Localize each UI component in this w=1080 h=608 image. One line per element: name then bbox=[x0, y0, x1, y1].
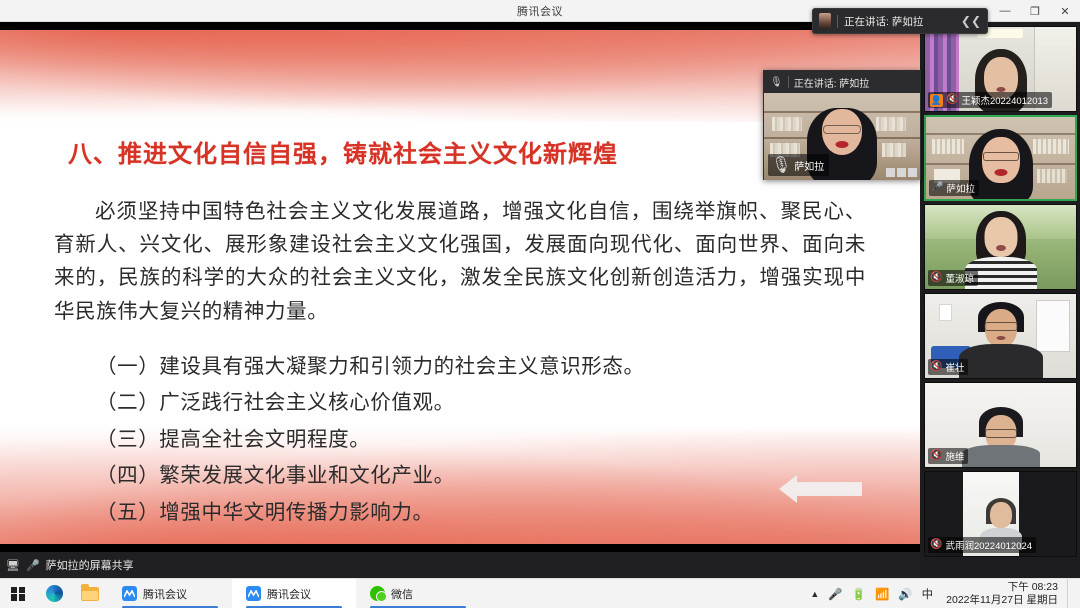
floating-video-title: 正在讲话: 萨如拉 bbox=[794, 75, 870, 90]
participant-tile[interactable]: 👤 🔇 王颖杰20224012013 bbox=[924, 26, 1077, 112]
host-icon: 👤 bbox=[930, 94, 943, 107]
list-item: （三）提高全社会文明程度。 bbox=[96, 421, 890, 457]
ime-indicator[interactable]: 中 bbox=[922, 586, 934, 602]
back-arrow-icon bbox=[796, 482, 862, 496]
participant-tile[interactable]: 🔇 武雨润20224012024 bbox=[924, 471, 1077, 557]
participant-badge: 🔇 崔壮 bbox=[928, 359, 968, 375]
tencent-meeting-icon bbox=[122, 586, 137, 601]
show-desktop-button[interactable] bbox=[1067, 579, 1072, 608]
microphone-on-icon: 🎤 bbox=[26, 559, 40, 572]
participant-badge: 🔇 施维 bbox=[928, 448, 968, 464]
microphone-icon: 🎙 bbox=[770, 77, 783, 88]
list-item: （四）繁荣发展文化事业和文化产业。 bbox=[96, 457, 890, 493]
participant-name: 施维 bbox=[945, 449, 964, 463]
floating-video-name: 萨如拉 bbox=[794, 158, 824, 173]
clock-time: 下午 08:23 bbox=[946, 581, 1058, 593]
system-tray: ▲ 🎤 🔋 📶 🔊 中 下午 08:23 2022年11月27日 星期日 bbox=[810, 579, 1080, 608]
pill-divider bbox=[837, 15, 838, 28]
participant-name: 武雨润20224012024 bbox=[945, 538, 1032, 552]
tray-overflow-icon[interactable]: ▲ bbox=[810, 589, 819, 599]
microphone-muted-icon: 🔇 bbox=[930, 451, 942, 461]
control-dot[interactable] bbox=[897, 168, 906, 177]
tencent-meeting-window: 腾讯会议 — ❐ ✕ 八、推进文化自信自强，铸就社会主义文化新辉煌 必须坚持中国… bbox=[0, 0, 1080, 608]
collapse-arrows-icon[interactable]: ❮❮ bbox=[961, 14, 981, 28]
participant-badge: 👤 🔇 王颖杰20224012013 bbox=[928, 92, 1052, 108]
list-item: （五）增强中华文明传播力影响力。 bbox=[96, 494, 890, 530]
microphone-muted-icon: 🔇 bbox=[930, 273, 942, 283]
floating-video-name-badge: 🎙 萨如拉 bbox=[768, 154, 829, 176]
microphone-on-icon: 🎤 bbox=[931, 183, 943, 193]
screen-share-icon: 🖥 bbox=[6, 559, 20, 572]
list-item: （一）建设具有强大凝聚力和引领力的社会主义意识形态。 bbox=[96, 348, 890, 384]
speaking-indicator-pill[interactable]: 正在讲话: 萨如拉 ❮❮ bbox=[812, 8, 988, 34]
taskbar-item-label: 腾讯会议 bbox=[143, 586, 187, 602]
minimize-button[interactable]: — bbox=[990, 0, 1020, 22]
participant-tile[interactable]: 🎤 萨如拉 bbox=[924, 115, 1077, 201]
windows-start-icon[interactable] bbox=[0, 579, 36, 608]
taskbar-item-tencent-meeting-2[interactable]: 腾讯会议 bbox=[232, 579, 356, 608]
speaking-indicator-text: 正在讲话: 萨如拉 bbox=[844, 14, 923, 29]
floating-speaker-video[interactable]: 🎙 正在讲话: 萨如拉 🎙 萨如拉 bbox=[763, 70, 921, 180]
microphone-muted-icon: 🔇 bbox=[946, 95, 958, 105]
tencent-meeting-icon bbox=[246, 586, 261, 601]
control-dot[interactable] bbox=[908, 168, 917, 177]
participant-tile[interactable]: 🔇 施维 bbox=[924, 382, 1077, 468]
participant-name: 萨如拉 bbox=[946, 181, 975, 195]
taskbar-clock[interactable]: 下午 08:23 2022年11月27日 星期日 bbox=[942, 581, 1058, 605]
battery-icon[interactable]: 🔋 bbox=[852, 587, 866, 601]
microphone-on-icon: 🎙 bbox=[771, 155, 791, 175]
list-item: （二）广泛践行社会主义核心价值观。 bbox=[96, 384, 890, 420]
window-controls: — ❐ ✕ bbox=[990, 0, 1080, 22]
microphone-muted-icon: 🔇 bbox=[930, 540, 942, 550]
floating-video-controls[interactable] bbox=[886, 168, 917, 177]
microphone-icon[interactable]: 🎤 bbox=[828, 587, 842, 601]
volume-icon[interactable]: 🔊 bbox=[898, 587, 912, 601]
slide-list: （一）建设具有强大凝聚力和引领力的社会主义意识形态。 （二）广泛践行社会主义核心… bbox=[30, 348, 890, 530]
speaker-thumbnail-icon bbox=[819, 13, 831, 29]
participant-badge: 🎤 萨如拉 bbox=[929, 180, 979, 196]
microsoft-edge-icon[interactable] bbox=[36, 579, 72, 608]
taskbar-item-wechat[interactable]: 微信 bbox=[356, 579, 480, 608]
file-explorer-icon[interactable] bbox=[72, 579, 108, 608]
participant-tile[interactable]: 🔇 崔壮 bbox=[924, 293, 1077, 379]
wechat-icon bbox=[370, 586, 385, 601]
participant-tile[interactable]: 🔇 董淑琼 bbox=[924, 204, 1077, 290]
windows-taskbar: 腾讯会议 腾讯会议 微信 ▲ 🎤 🔋 📶 🔊 中 bbox=[0, 578, 1080, 608]
screen-share-status-bar: 🖥 🎤 萨如拉的屏幕共享 bbox=[0, 552, 920, 578]
slide-paragraph: 必须坚持中国特色社会主义文化发展道路，增强文化自信，围绕举旗帜、聚民心、育新人、… bbox=[30, 195, 890, 328]
participant-name: 董淑琼 bbox=[945, 271, 974, 285]
participant-name: 王颖杰20224012013 bbox=[961, 93, 1048, 107]
restore-button[interactable]: ❐ bbox=[1020, 0, 1050, 22]
participant-badge: 🔇 董淑琼 bbox=[928, 270, 978, 286]
slide-title: 八、推进文化自信自强，铸就社会主义文化新辉煌 bbox=[30, 134, 890, 169]
microphone-muted-icon: 🔇 bbox=[930, 362, 942, 372]
header-divider bbox=[788, 76, 789, 88]
participant-badge: 🔇 武雨润20224012024 bbox=[928, 537, 1036, 553]
taskbar-item-tencent-meeting-1[interactable]: 腾讯会议 bbox=[108, 579, 232, 608]
taskbar-item-label: 腾讯会议 bbox=[267, 586, 311, 602]
slide-content: 八、推进文化自信自强，铸就社会主义文化新辉煌 必须坚持中国特色社会主义文化发展道… bbox=[0, 134, 920, 530]
floating-video-header: 🎙 正在讲话: 萨如拉 bbox=[764, 71, 920, 93]
floating-video-feed: 🎙 萨如拉 bbox=[764, 93, 920, 180]
participant-rail[interactable]: 👤 🔇 王颖杰20224012013 🎤 萨如拉 bbox=[920, 22, 1080, 586]
control-dot[interactable] bbox=[886, 168, 895, 177]
close-button[interactable]: ✕ bbox=[1050, 0, 1080, 22]
taskbar-item-label: 微信 bbox=[391, 586, 413, 602]
app-title: 腾讯会议 bbox=[517, 3, 563, 19]
participant-name: 崔壮 bbox=[945, 360, 964, 374]
wifi-icon[interactable]: 📶 bbox=[875, 587, 889, 601]
clock-date: 2022年11月27日 星期日 bbox=[946, 594, 1058, 606]
screen-share-status-text: 萨如拉的屏幕共享 bbox=[46, 557, 134, 573]
